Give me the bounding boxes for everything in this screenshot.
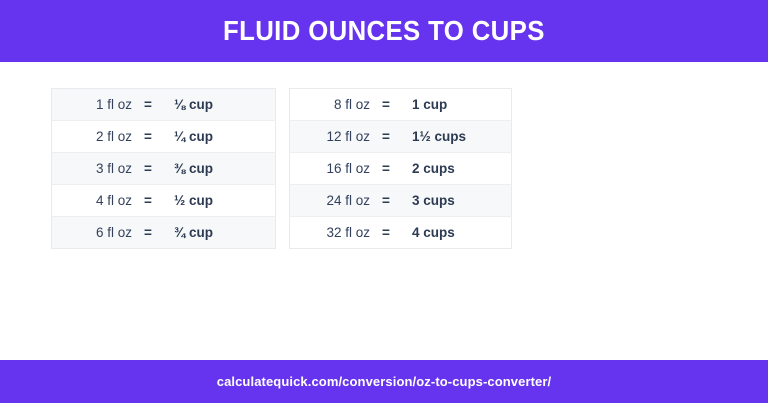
cell-result: 1½ cups — [402, 121, 512, 153]
cell-result: 2 cups — [402, 153, 512, 185]
cell-amount: 24 fl oz — [290, 185, 371, 217]
footer-url-text[interactable]: calculatequick.com/conversion/oz-to-cups… — [217, 374, 552, 389]
table-row: 8 fl oz = 1 cup — [290, 89, 512, 121]
cell-equals: = — [132, 185, 164, 217]
cell-result: ½ cup — [164, 185, 276, 217]
table-row: 16 fl oz = 2 cups — [290, 153, 512, 185]
cell-result: 4 cups — [402, 217, 512, 249]
cell-equals: = — [370, 121, 402, 153]
cell-amount: 3 fl oz — [52, 153, 133, 185]
footer-bar: calculatequick.com/conversion/oz-to-cups… — [0, 360, 768, 403]
page-title: FLUID OUNCES TO CUPS — [223, 17, 545, 45]
table-row: 6 fl oz = ¾ cup — [52, 217, 276, 249]
table-row: 2 fl oz = ¼ cup — [52, 121, 276, 153]
cell-equals: = — [370, 185, 402, 217]
cell-result: 3 cups — [402, 185, 512, 217]
conversion-table-left: 1 fl oz = ⅛ cup 2 fl oz = ¼ cup 3 fl oz … — [51, 88, 276, 249]
cell-equals: = — [132, 89, 164, 121]
cell-result: 1 cup — [402, 89, 512, 121]
cell-amount: 32 fl oz — [290, 217, 371, 249]
cell-equals: = — [370, 89, 402, 121]
cell-amount: 1 fl oz — [52, 89, 133, 121]
cell-result: ⅛ cup — [164, 89, 276, 121]
cell-equals: = — [370, 217, 402, 249]
cell-equals: = — [132, 217, 164, 249]
content-area: 1 fl oz = ⅛ cup 2 fl oz = ¼ cup 3 fl oz … — [0, 62, 768, 360]
cell-amount: 16 fl oz — [290, 153, 371, 185]
cell-amount: 12 fl oz — [290, 121, 371, 153]
header-bar: FLUID OUNCES TO CUPS — [0, 0, 768, 62]
conversion-tables: 1 fl oz = ⅛ cup 2 fl oz = ¼ cup 3 fl oz … — [51, 88, 512, 249]
cell-amount: 8 fl oz — [290, 89, 371, 121]
cell-amount: 4 fl oz — [52, 185, 133, 217]
cell-amount: 6 fl oz — [52, 217, 133, 249]
table-row: 32 fl oz = 4 cups — [290, 217, 512, 249]
table-row: 12 fl oz = 1½ cups — [290, 121, 512, 153]
conversion-table-right: 8 fl oz = 1 cup 12 fl oz = 1½ cups 16 fl… — [289, 88, 512, 249]
table-row: 24 fl oz = 3 cups — [290, 185, 512, 217]
table-row: 1 fl oz = ⅛ cup — [52, 89, 276, 121]
cell-amount: 2 fl oz — [52, 121, 133, 153]
cell-equals: = — [370, 153, 402, 185]
cell-result: ⅜ cup — [164, 153, 276, 185]
table-row: 3 fl oz = ⅜ cup — [52, 153, 276, 185]
cell-result: ¾ cup — [164, 217, 276, 249]
cell-equals: = — [132, 121, 164, 153]
table-row: 4 fl oz = ½ cup — [52, 185, 276, 217]
cell-equals: = — [132, 153, 164, 185]
cell-result: ¼ cup — [164, 121, 276, 153]
